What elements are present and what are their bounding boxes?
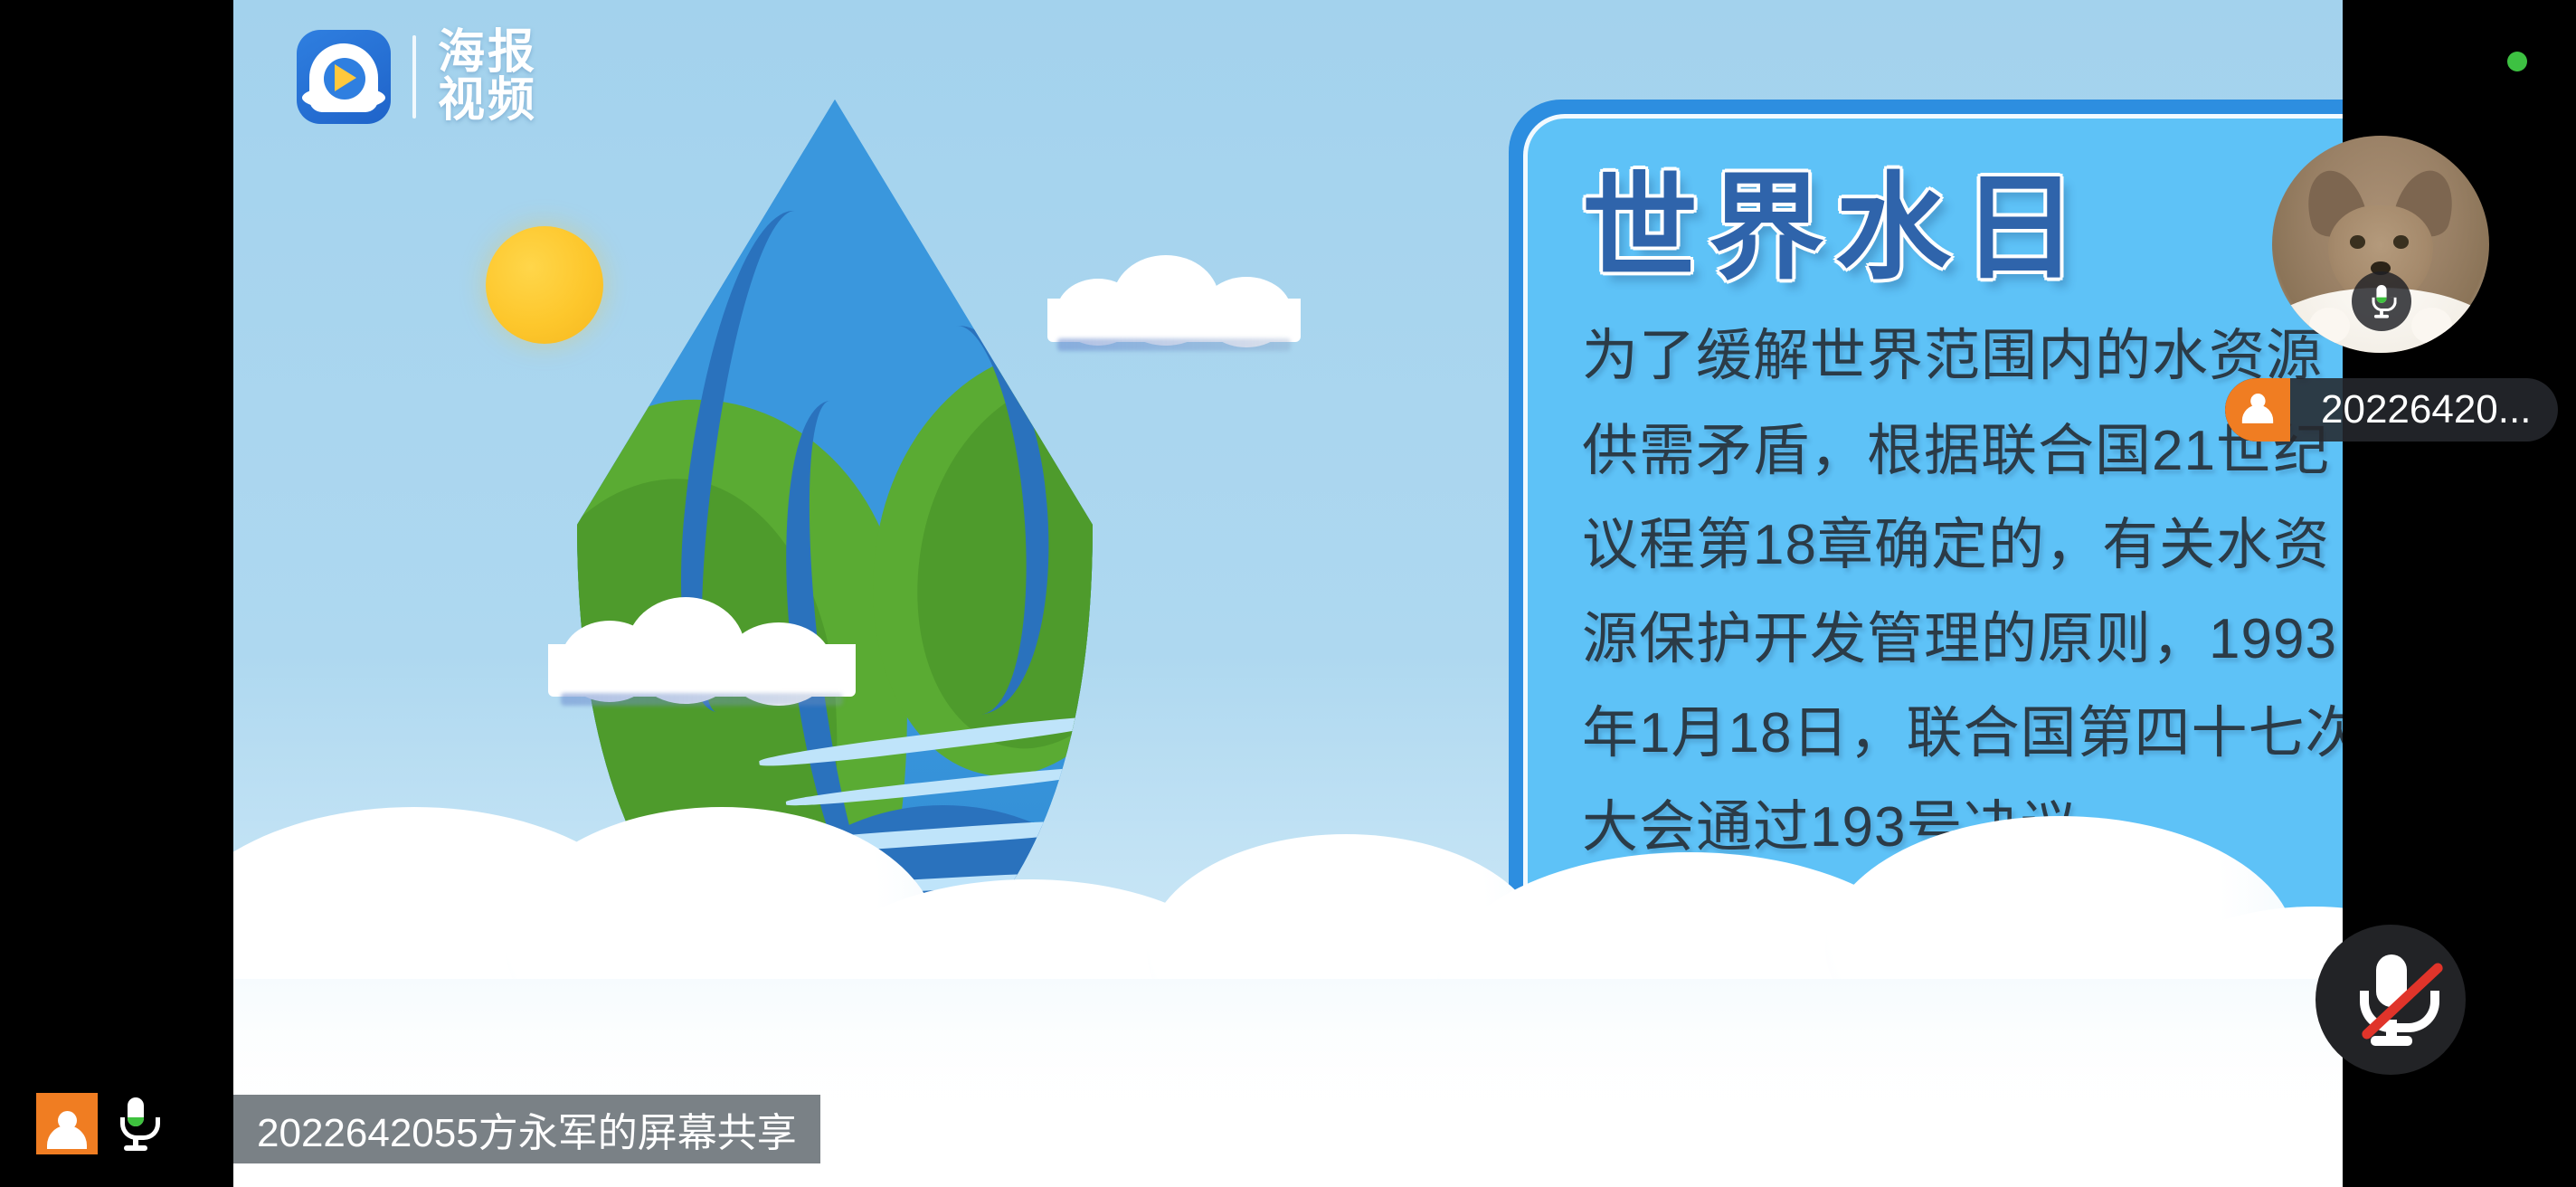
cloud-icon: [1047, 253, 1301, 344]
microphone-icon[interactable]: [118, 1096, 154, 1152]
brand-logo-line1: 海报: [438, 29, 537, 77]
haibao-play-logo-icon: [297, 30, 391, 124]
participant-name-badge: 20226420...: [2225, 378, 2558, 442]
meeting-screen: 世界水日 为了缓解世界范围内的水资源供需矛盾，根据联合国21世纪议程第18章确定…: [0, 0, 2576, 1187]
cloud-icon: [548, 597, 856, 697]
left-letterbox: [0, 0, 233, 1187]
microphone-muted-icon: [2352, 953, 2429, 1047]
participant-name-label: 20226420...: [2290, 387, 2531, 432]
person-icon: [36, 1093, 98, 1154]
brand-logo: 海报 视频: [297, 29, 537, 125]
mute-toggle-button[interactable]: [2316, 925, 2466, 1075]
brand-logo-text: 海报 视频: [438, 29, 537, 125]
screen-share-label: 2022642055方永军的屏幕共享: [233, 1095, 820, 1163]
person-icon: [2225, 378, 2290, 442]
brand-logo-line2: 视频: [438, 77, 537, 125]
recording-status-dot: [2507, 52, 2527, 71]
self-participant-chip[interactable]: [36, 1093, 154, 1154]
participant-video-tile[interactable]: [2272, 136, 2489, 353]
logo-divider: [412, 35, 416, 119]
participant-microphone-icon[interactable]: [2352, 271, 2411, 331]
shared-screen-viewport[interactable]: 世界水日 为了缓解世界范围内的水资源供需矛盾，根据联合国21世纪议程第18章确定…: [233, 0, 2343, 1187]
slide-title: 世界水日: [1582, 164, 2343, 293]
